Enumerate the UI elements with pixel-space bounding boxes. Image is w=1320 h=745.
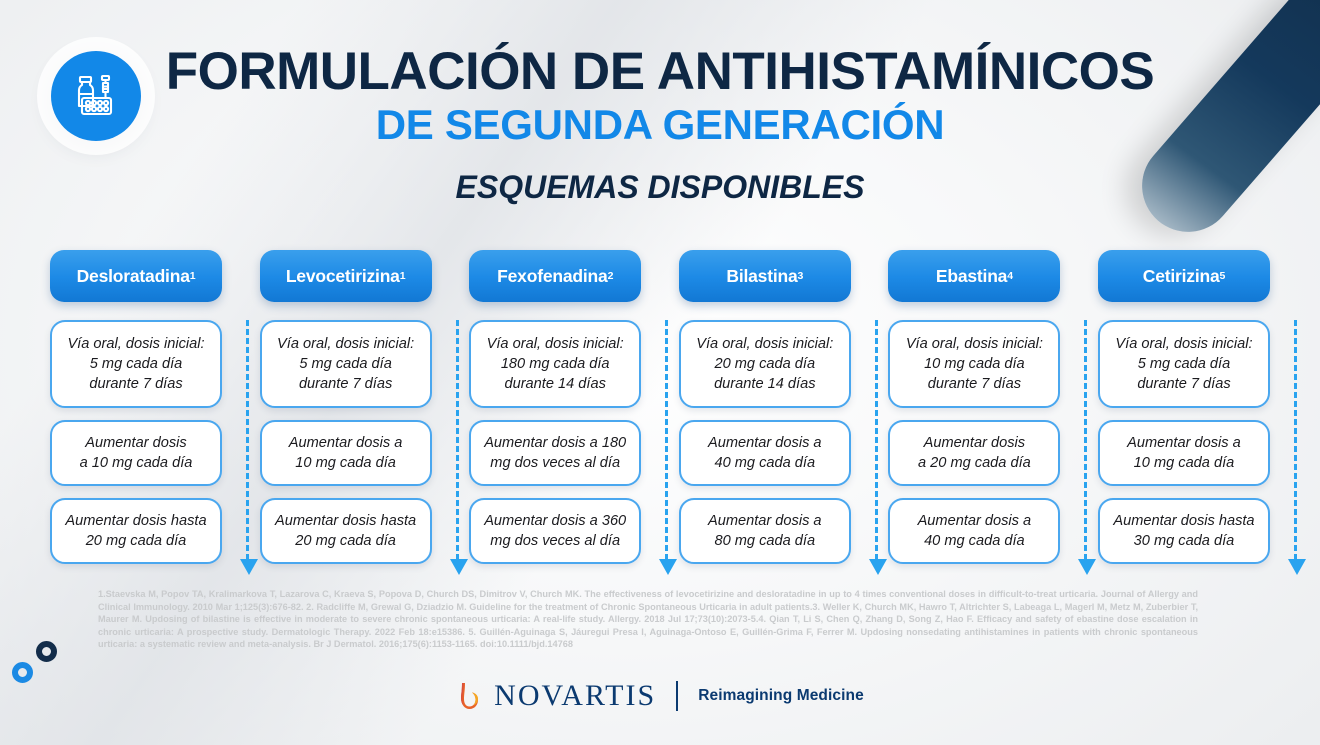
drug-name: Fexofenadina [497,266,607,287]
dose-step-card: Vía oral, dosis inicial:10 mg cada díadu… [888,320,1060,408]
dose-line: durante 7 días [1115,374,1252,394]
schemes-grid: Desloratadina1Vía oral, dosis inicial:5 … [50,250,1270,564]
dose-line: a 10 mg cada día [80,453,193,473]
dose-line: mg dos veces al día [484,531,626,551]
dose-line: 20 mg cada día [275,531,416,551]
dose-step-card: Vía oral, dosis inicial:20 mg cada díadu… [679,320,851,408]
dose-line: Aumentar dosis a [708,511,822,531]
arrow-head-icon [869,559,887,575]
column-header-desloratadina[interactable]: Desloratadina1 [50,250,222,302]
step-connector-arrow [1294,320,1297,560]
dose-line: Aumentar dosis hasta [275,511,416,531]
poster-canvas: FORMULACIÓN DE ANTIHISTAMÍNICOS DE SEGUN… [0,0,1320,745]
page-title: FORMULACIÓN DE ANTIHISTAMÍNICOS [165,44,1155,100]
step-connector-arrow [1084,320,1087,560]
dose-line: Aumentar dosis a [708,433,822,453]
scheme-column: Levocetirizina1Vía oral, dosis inicial:5… [260,250,432,564]
dose-line: Aumentar dosis a [918,511,1032,531]
step-connector-arrow [456,320,459,560]
scheme-column: Fexofenadina2Vía oral, dosis inicial:180… [469,250,641,564]
page-title-secondary: DE SEGUNDA GENERACIÓN [165,100,1155,150]
dose-line: 40 mg cada día [708,453,822,473]
step-connector-arrow [665,320,668,560]
dose-line: 5 mg cada día [1115,354,1252,374]
dose-step-card: Vía oral, dosis inicial:5 mg cada díadur… [1098,320,1270,408]
dose-line: a 20 mg cada día [918,453,1031,473]
dose-step-card: Aumentar dosisa 10 mg cada día [50,420,222,486]
novartis-footer: NOVARTIS Reimagining Medicine [0,679,1320,713]
dose-line: 80 mg cada día [708,531,822,551]
dose-step-card: Aumentar dosis hasta20 mg cada día [260,498,432,564]
arrow-head-icon [1288,559,1306,575]
dose-line: Vía oral, dosis inicial: [67,334,204,354]
arrow-head-icon [240,559,258,575]
dose-step-card: Aumentar dosis a10 mg cada día [1098,420,1270,486]
dose-line: Vía oral, dosis inicial: [487,334,624,354]
column-header-cetirizina[interactable]: Cetirizina5 [1098,250,1270,302]
poster-header: FORMULACIÓN DE ANTIHISTAMÍNICOS DE SEGUN… [0,44,1320,224]
scheme-column: Ebastina4Vía oral, dosis inicial:10 mg c… [888,250,1060,564]
dose-step-card: Aumentar dosis hasta20 mg cada día [50,498,222,564]
dose-step-card: Aumentar dosis a 360mg dos veces al día [469,498,641,564]
dose-line: 40 mg cada día [918,531,1032,551]
dose-line: 180 mg cada día [487,354,624,374]
scheme-column: Bilastina3Vía oral, dosis inicial:20 mg … [679,250,851,564]
dose-line: durante 7 días [277,374,414,394]
dose-line: Aumentar dosis a [289,433,403,453]
dose-line: 5 mg cada día [277,354,414,374]
dose-step-card: Aumentar dosis a 180mg dos veces al día [469,420,641,486]
dose-step-card: Aumentar dosisa 20 mg cada día [888,420,1060,486]
dose-line: Vía oral, dosis inicial: [277,334,414,354]
column-header-fexofenadina[interactable]: Fexofenadina2 [469,250,641,302]
dose-line: 10 mg cada día [906,354,1043,374]
novartis-tagline: Reimagining Medicine [698,687,864,705]
drug-name: Levocetirizina [286,266,400,287]
dose-step-card: Aumentar dosis a40 mg cada día [888,498,1060,564]
column-header-levocetirizina[interactable]: Levocetirizina1 [260,250,432,302]
column-header-ebastina[interactable]: Ebastina4 [888,250,1060,302]
dose-line: 20 mg cada día [65,531,206,551]
title-block: FORMULACIÓN DE ANTIHISTAMÍNICOS DE SEGUN… [165,44,1155,206]
drug-name: Ebastina [936,266,1007,287]
dose-line: durante 14 días [696,374,833,394]
scheme-column: Cetirizina5Vía oral, dosis inicial:5 mg … [1098,250,1270,564]
dose-line: Aumentar dosis hasta [1113,511,1254,531]
dose-line: Aumentar dosis a [1127,433,1241,453]
arrow-head-icon [1078,559,1096,575]
dose-line: 30 mg cada día [1113,531,1254,551]
dose-line: Vía oral, dosis inicial: [696,334,833,354]
dose-line: durante 7 días [906,374,1043,394]
dose-step-card: Aumentar dosis hasta30 mg cada día [1098,498,1270,564]
dose-line: 5 mg cada día [67,354,204,374]
dose-step-card: Aumentar dosis a80 mg cada día [679,498,851,564]
dose-line: durante 7 días [67,374,204,394]
arrow-head-icon [659,559,677,575]
dose-line: mg dos veces al día [484,453,626,473]
dose-line: Aumentar dosis [80,433,193,453]
page-subtitle: ESQUEMAS DISPONIBLES [165,168,1155,206]
dose-step-card: Aumentar dosis a10 mg cada día [260,420,432,486]
dose-line: Vía oral, dosis inicial: [906,334,1043,354]
step-connector-arrow [875,320,878,560]
references-text: 1.Staevska M, Popov TA, Kralimarkova T, … [98,588,1198,651]
dose-line: 20 mg cada día [696,354,833,374]
drug-name: Cetirizina [1143,266,1220,287]
dose-step-card: Vía oral, dosis inicial:180 mg cada díad… [469,320,641,408]
dose-line: Aumentar dosis a 180 [484,433,626,453]
arrow-head-icon [450,559,468,575]
drug-name: Bilastina [726,266,797,287]
dose-line: Aumentar dosis hasta [65,511,206,531]
decorative-ring-dark [36,641,57,662]
step-connector-arrow [246,320,249,560]
scheme-column: Desloratadina1Vía oral, dosis inicial:5 … [50,250,222,564]
drug-name: Desloratadina [77,266,190,287]
novartis-flame-icon [456,681,482,711]
footer-divider [676,681,678,711]
novartis-wordmark: NOVARTIS [494,679,656,713]
dose-line: Aumentar dosis [918,433,1031,453]
dose-line: 10 mg cada día [289,453,403,473]
dose-step-card: Aumentar dosis a40 mg cada día [679,420,851,486]
dose-line: durante 14 días [487,374,624,394]
column-header-bilastina[interactable]: Bilastina3 [679,250,851,302]
medicine-bottle-syringe-blister-icon [51,51,141,141]
dose-step-card: Vía oral, dosis inicial:5 mg cada díadur… [50,320,222,408]
dose-line: Vía oral, dosis inicial: [1115,334,1252,354]
dose-step-card: Vía oral, dosis inicial:5 mg cada díadur… [260,320,432,408]
dose-line: 10 mg cada día [1127,453,1241,473]
dose-line: Aumentar dosis a 360 [484,511,626,531]
